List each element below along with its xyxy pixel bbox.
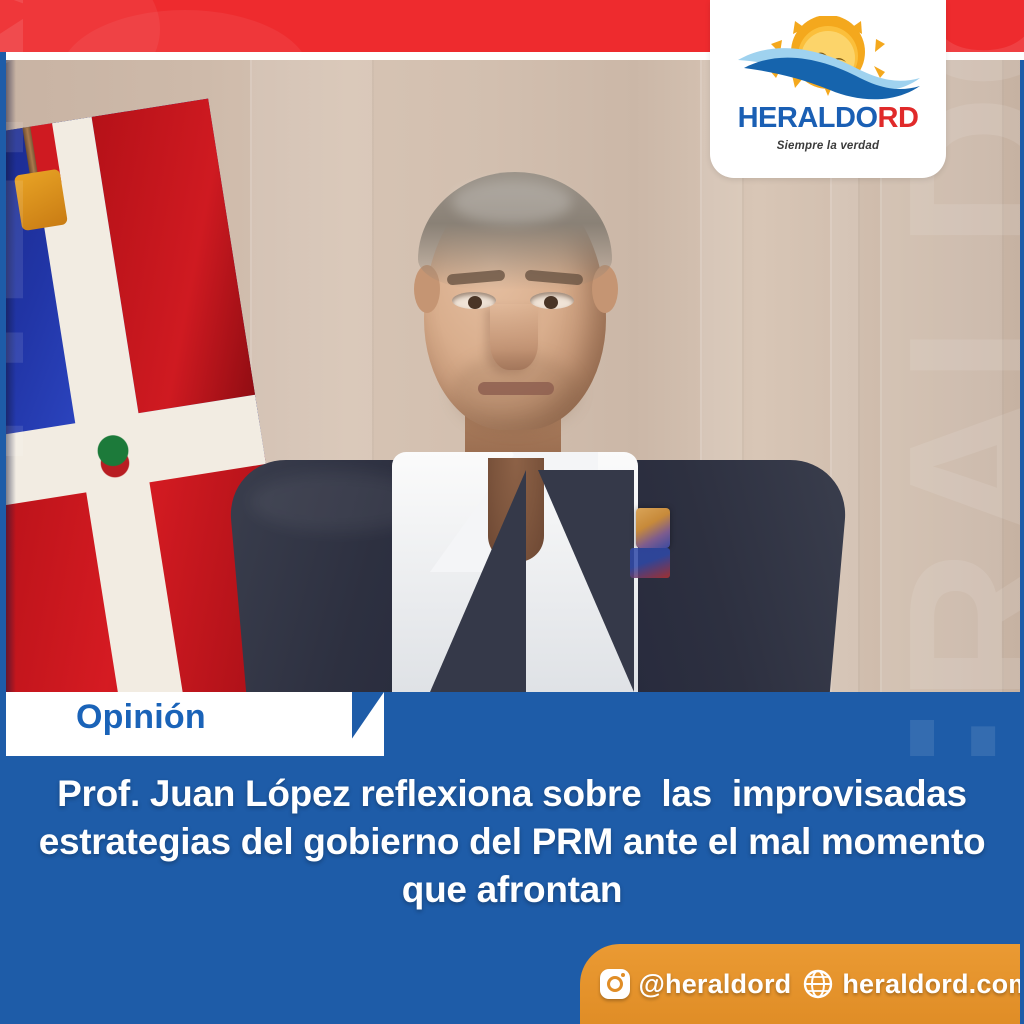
frame-edge-right	[1020, 60, 1024, 1024]
hair-highlight	[452, 180, 572, 224]
brand-logo-card[interactable]: HERALDORD Siempre la verdad	[710, 0, 946, 178]
globe-icon	[803, 969, 833, 999]
instagram-handle-item[interactable]: @heraldord	[600, 969, 792, 1000]
headline-band: Prof. Juan López reflexiona sobre las im…	[0, 756, 1024, 940]
mouth	[478, 382, 554, 395]
headline-text: Prof. Juan López reflexiona sobre las im…	[7, 770, 1017, 914]
website-label: heraldord.com	[842, 969, 1024, 1000]
website-item[interactable]: heraldord.com	[803, 969, 1024, 1000]
logo-wordmark-primary: HERALDO	[738, 102, 878, 134]
sun-wave-logo-icon	[730, 16, 926, 110]
logo-tagline: Siempre la verdad	[710, 140, 946, 152]
nose	[490, 304, 538, 370]
instagram-handle-label: @heraldord	[639, 969, 792, 1000]
lapel-pin-icon	[636, 508, 670, 548]
logo-wordmark: HERALDORD	[710, 104, 946, 133]
news-graphic-card: HERALDORD HERALDORD	[0, 0, 1024, 1024]
suit-lapel-right	[538, 470, 634, 692]
category-banner: Opinión	[0, 692, 1024, 756]
category-label: Opinión	[76, 698, 206, 737]
frame-edge-left	[0, 52, 6, 1024]
pupil-left	[468, 296, 482, 309]
footer-social-bar: @heraldord heraldord.com	[580, 944, 1024, 1024]
suit-lapel-left	[430, 470, 526, 692]
instagram-icon	[600, 969, 630, 999]
logo-wordmark-accent: RD	[878, 102, 919, 134]
category-banner-slant	[340, 692, 384, 756]
pupil-right	[544, 296, 558, 309]
lapel-pin-flag-icon	[630, 548, 670, 578]
